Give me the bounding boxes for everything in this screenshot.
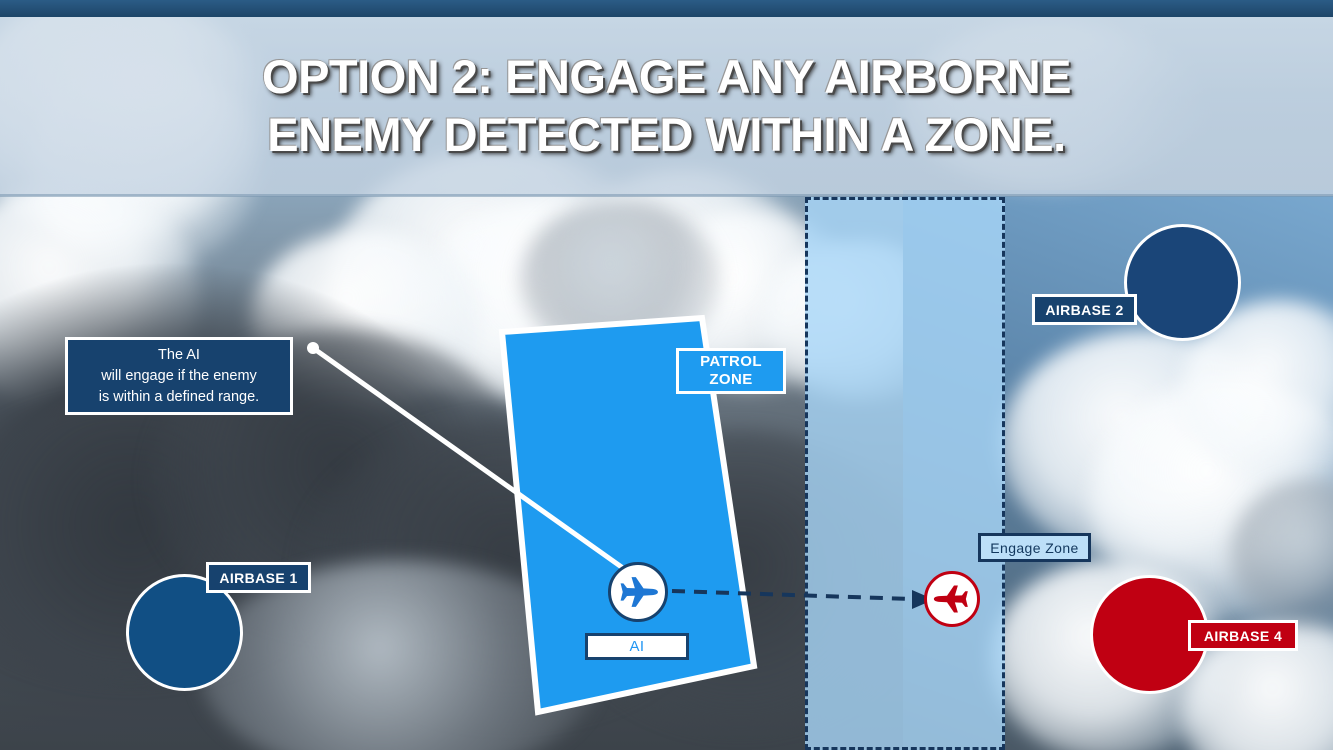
ai-label: AI: [585, 633, 689, 660]
callout-line-2: will engage if the enemy: [99, 366, 259, 387]
airbase-2-label: AIRBASE 2: [1032, 294, 1137, 325]
page-title-line-1: OPTION 2: ENGAGE ANY AIRBORNE: [0, 48, 1333, 106]
engage-zone-label: Engage Zone: [978, 533, 1091, 562]
page-title: OPTION 2: ENGAGE ANY AIRBORNE ENEMY DETE…: [0, 48, 1333, 164]
top-accent-bar: [0, 0, 1333, 17]
airbase-4-label: AIRBASE 4: [1188, 620, 1298, 651]
callout-line-1: The AI: [99, 345, 259, 366]
enemy-aircraft-marker[interactable]: [924, 571, 980, 627]
page-title-line-2: ENEMY DETECTED WITHIN A ZONE.: [0, 106, 1333, 164]
slide-canvas: OPTION 2: ENGAGE ANY AIRBORNE ENEMY DETE…: [0, 0, 1333, 750]
ai-behaviour-callout: The AI will engage if the enemy is withi…: [65, 337, 293, 415]
airbase-2-marker[interactable]: [1124, 224, 1241, 341]
fighter-jet-blue-icon: [616, 570, 660, 614]
engage-zone-region[interactable]: [805, 197, 1005, 750]
fighter-jet-red-icon: [932, 579, 972, 619]
header-divider: [0, 194, 1333, 197]
callout-line-3: is within a defined range.: [99, 387, 259, 408]
airbase-1-label: AIRBASE 1: [206, 562, 311, 593]
patrol-zone-label-line-2: ZONE: [700, 371, 762, 389]
patrol-zone-label-line-1: PATROL: [700, 353, 762, 371]
patrol-zone-label: PATROL ZONE: [676, 348, 786, 394]
ai-aircraft-marker[interactable]: [608, 562, 668, 622]
